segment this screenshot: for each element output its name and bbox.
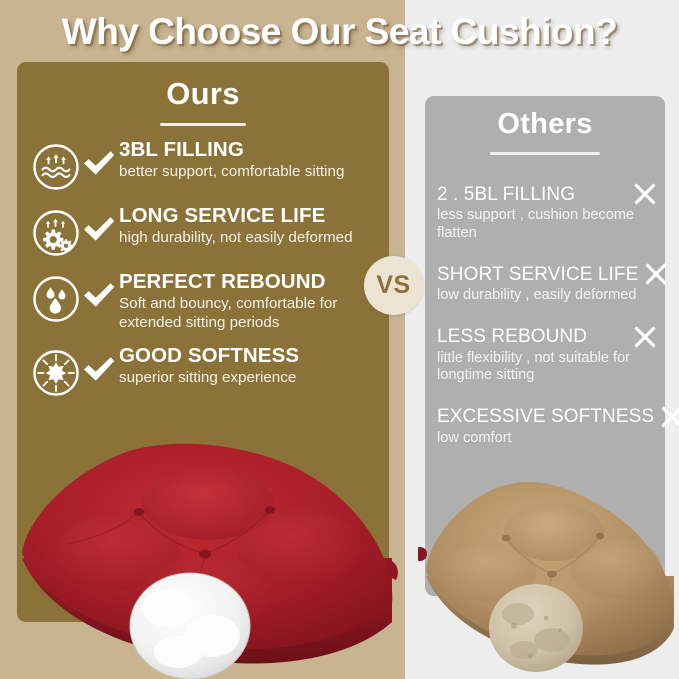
others-feature-row: EXCESSIVE SOFTNESS low comfort <box>425 405 665 448</box>
ours-feature-text: LONG SERVICE LIFE high durability, not e… <box>117 204 379 248</box>
red-cushion-image <box>8 440 400 679</box>
others-feature-title: 2 . 5BL FILLING <box>437 183 575 206</box>
ours-feature-row: PERFECT REBOUND Soft and bouncy, comfort… <box>17 270 389 332</box>
others-feature-head: SHORT SERVICE LIFE <box>437 262 657 286</box>
others-feature-title: SHORT SERVICE LIFE <box>437 263 638 286</box>
tan-cushion-image <box>418 478 679 679</box>
ours-feature-desc: better support, comfortable sitting <box>119 163 377 182</box>
ours-feature-row: GOOD SOFTNESS superior sitting experienc… <box>17 344 389 398</box>
airflow-waves-icon <box>31 142 81 192</box>
vs-badge: VS <box>364 256 423 315</box>
infographic-canvas: Why Choose Our Seat Cushion? Ours <box>0 0 679 679</box>
others-heading: Others <box>425 96 665 141</box>
ours-feature-list: 3BL FILLING better support, comfortable … <box>17 138 389 398</box>
others-feature-desc: low durability , easily deformed <box>437 287 652 305</box>
ours-feature-title: GOOD SOFTNESS <box>119 344 379 368</box>
ours-heading-rule <box>160 123 246 126</box>
others-feature-desc: low comfort <box>437 430 652 448</box>
gears-durability-icon <box>31 208 81 258</box>
ours-feature-text: PERFECT REBOUND Soft and bouncy, comfort… <box>117 270 379 332</box>
ours-feature-title: 3BL FILLING <box>119 138 379 162</box>
ours-feature-desc: high durability, not easily deformed <box>119 229 377 248</box>
others-feature-row: LESS REBOUND little flexibility , not su… <box>425 325 665 385</box>
others-feature-title: EXCESSIVE SOFTNESS <box>437 405 654 428</box>
others-feature-row: 2 . 5BL FILLING less support , cushion b… <box>425 182 665 242</box>
others-feature-title: LESS REBOUND <box>437 325 587 348</box>
ours-feature-text: GOOD SOFTNESS superior sitting experienc… <box>117 344 379 388</box>
ours-heading: Ours <box>17 62 389 112</box>
others-feature-desc: little flexibility , not suitable for lo… <box>437 350 652 385</box>
ours-feature-title: PERFECT REBOUND <box>119 270 379 294</box>
check-icon <box>81 146 117 180</box>
check-icon <box>81 212 117 246</box>
others-feature-row: SHORT SERVICE LIFE low durability , easi… <box>425 262 665 305</box>
water-droplets-icon <box>31 274 81 324</box>
others-feature-head: LESS REBOUND <box>437 325 657 349</box>
cross-icon <box>644 262 668 286</box>
cross-icon <box>633 182 657 206</box>
others-feature-list: 2 . 5BL FILLING less support , cushion b… <box>425 182 665 447</box>
check-icon <box>81 352 117 386</box>
cross-icon <box>633 325 657 349</box>
sun-burst-icon <box>31 348 81 398</box>
others-feature-head: 2 . 5BL FILLING <box>437 182 657 206</box>
others-feature-head: EXCESSIVE SOFTNESS <box>437 405 657 429</box>
page-title: Why Choose Our Seat Cushion? <box>0 8 679 56</box>
vs-label: VS <box>376 271 410 300</box>
ours-feature-desc: superior sitting experience <box>119 369 377 388</box>
ours-feature-text: 3BL FILLING better support, comfortable … <box>117 138 379 182</box>
ours-feature-title: LONG SERVICE LIFE <box>119 204 379 228</box>
ours-feature-row: LONG SERVICE LIFE high durability, not e… <box>17 204 389 258</box>
others-feature-desc: less support , cushion become flatten <box>437 207 652 242</box>
ours-feature-desc: Soft and bouncy, comfortable for extende… <box>119 295 377 332</box>
others-heading-rule <box>490 152 600 155</box>
cross-icon <box>660 405 679 429</box>
check-icon <box>81 278 117 312</box>
ours-feature-row: 3BL FILLING better support, comfortable … <box>17 138 389 192</box>
